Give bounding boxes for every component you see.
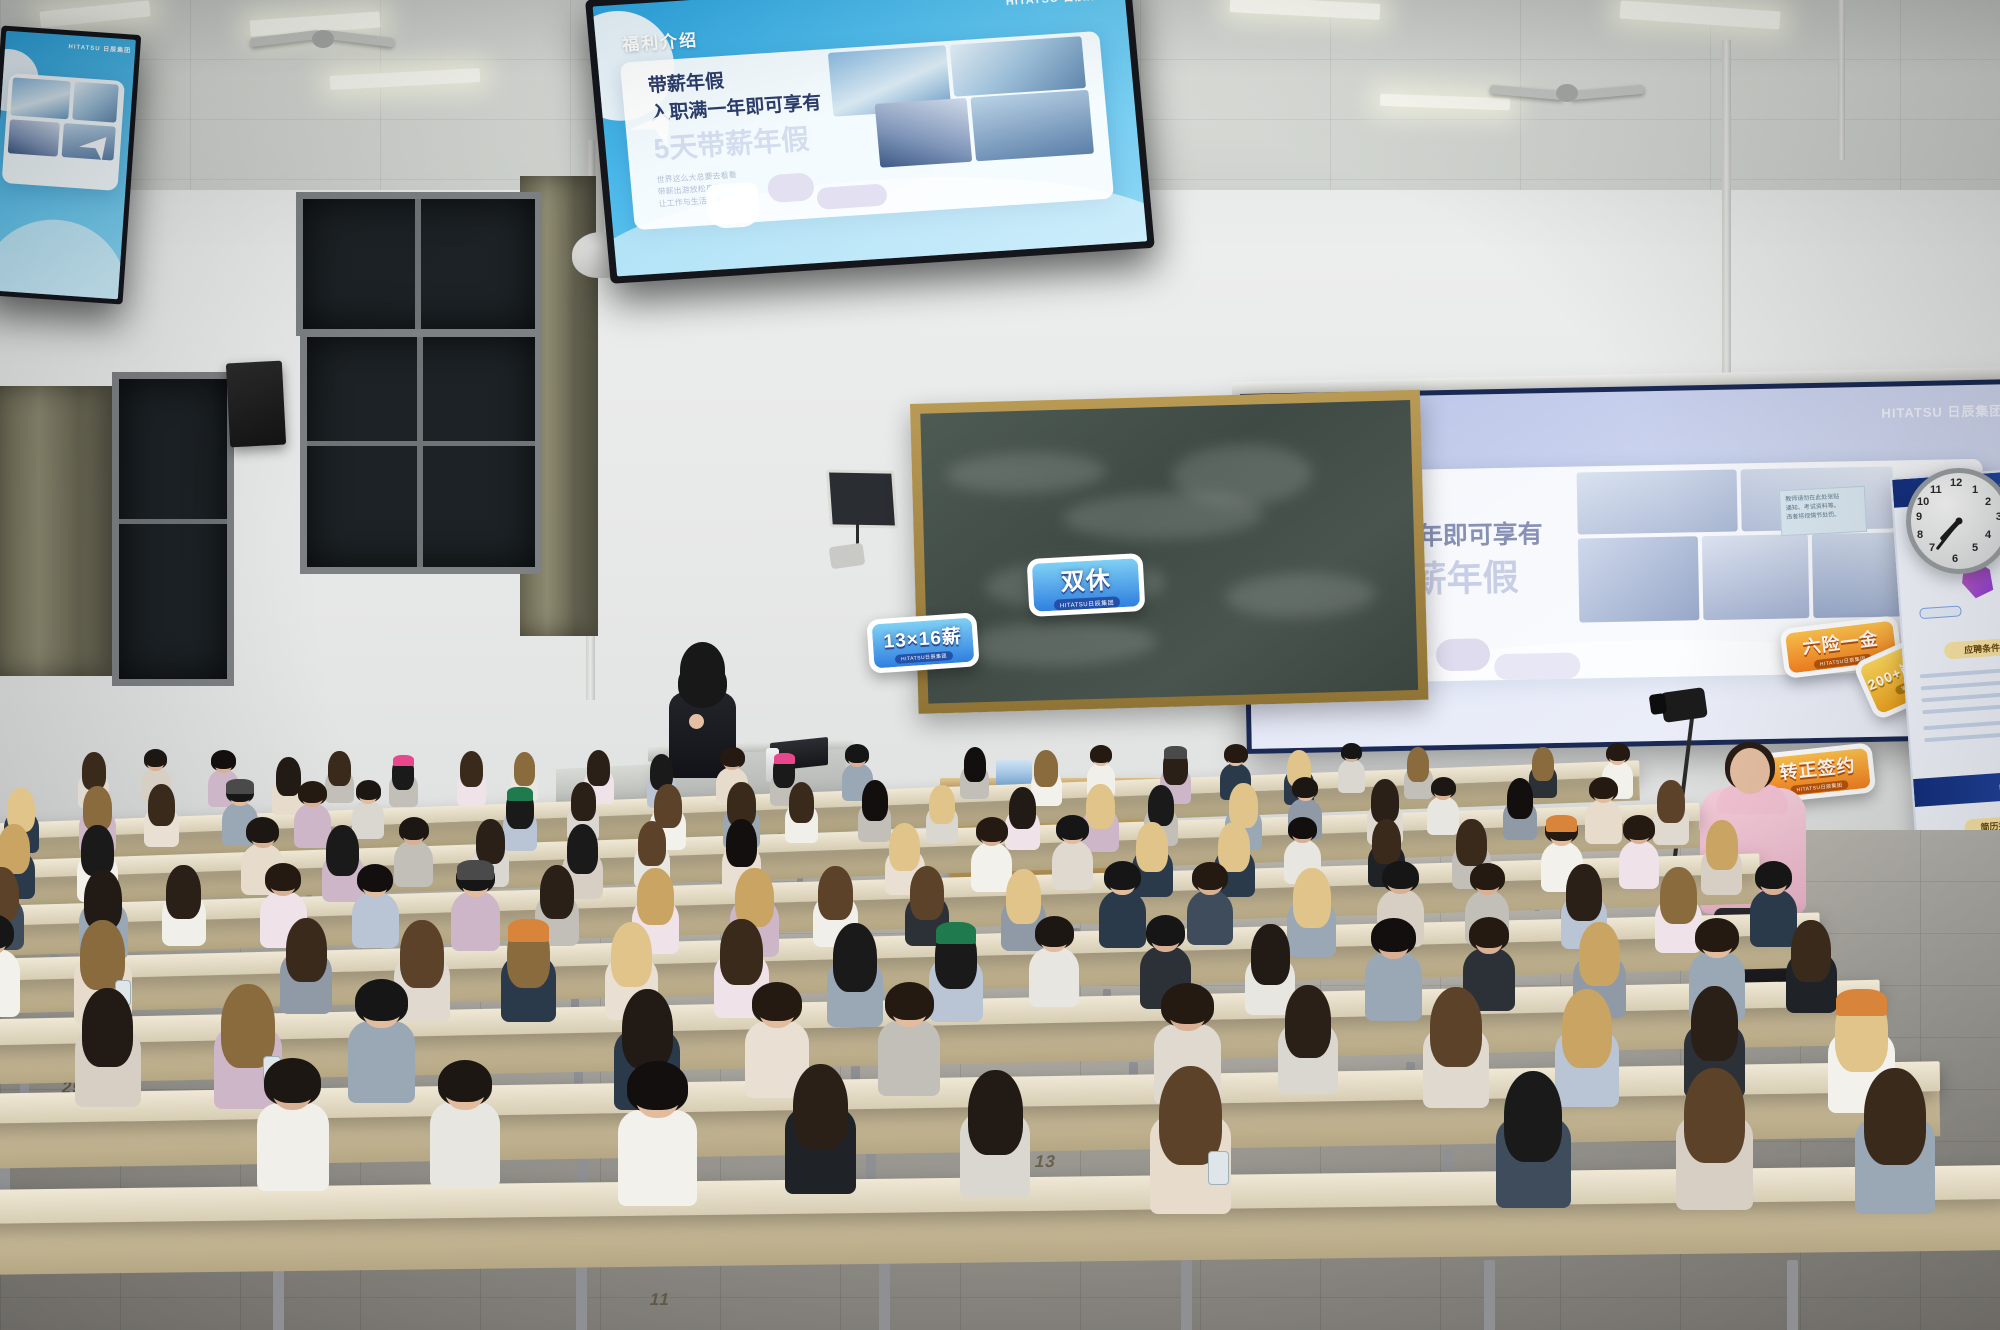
- audience-hair-back: [440, 1063, 490, 1102]
- audience-hair-back: [1693, 989, 1737, 1056]
- audience-hair-back: [1590, 778, 1617, 799]
- audience-cap: [1546, 815, 1577, 832]
- audience-member: [398, 819, 429, 885]
- audience-hair-back: [1138, 824, 1167, 869]
- audience-torso: [1338, 759, 1366, 793]
- audience-hair-back: [85, 873, 120, 927]
- audience-hair-back: [568, 826, 597, 870]
- audience-hair-back: [145, 750, 167, 767]
- slide-heading-1: 带薪年假: [647, 70, 725, 99]
- audience-cap: [774, 753, 795, 765]
- audience-hair-back: [1219, 824, 1248, 869]
- audience-member: [0, 917, 14, 1014]
- slide-section-label: 福利介绍: [621, 26, 699, 56]
- blackboard: [910, 390, 1428, 714]
- slide-secondary: HITATSU 日辰集团: [0, 31, 136, 299]
- audience-hair-back: [728, 820, 756, 863]
- chalk-smudge: [945, 451, 1106, 495]
- slide-photo-snow: [970, 90, 1094, 162]
- audience-member: [1507, 780, 1534, 838]
- audience-hair-back: [0, 826, 29, 871]
- audience-hair-back: [970, 1073, 1020, 1150]
- audience-member: [934, 926, 978, 1019]
- audience-torso: [352, 892, 398, 948]
- audience-hair-back: [84, 788, 110, 828]
- audience-member: [1292, 870, 1332, 954]
- camera-lens: [1649, 693, 1668, 715]
- poster-text-line: [1924, 729, 2000, 743]
- audience-torso: [1619, 840, 1659, 889]
- window-curtain-left: [0, 386, 112, 676]
- audience-cap: [1836, 989, 1886, 1016]
- audience-member: [1656, 781, 1685, 843]
- fan-blade: [1570, 85, 1645, 100]
- audience-hair-back: [655, 785, 681, 824]
- clock-number: 7: [1929, 542, 1935, 554]
- audience-member: [861, 782, 888, 840]
- clock-number: 11: [1930, 484, 1942, 496]
- sticker-body: 双休 HITATSU日辰集团: [1032, 558, 1140, 611]
- audience-hair-back: [721, 749, 744, 767]
- presenter-hair-top: [680, 642, 725, 698]
- audience-hair-back: [1087, 786, 1113, 826]
- audience-torso: [348, 1021, 416, 1104]
- window-lower-left: [300, 330, 542, 574]
- wall-notice: 教师请勿在此处张贴 通知、考试资料等。 违者将视情节处罚。: [1779, 486, 1867, 536]
- window-mullion-h: [307, 441, 535, 446]
- poster-text-line: [1920, 664, 2000, 678]
- audience-hair-back: [223, 988, 272, 1063]
- audience-hair-back: [82, 827, 112, 873]
- audience-member: [929, 786, 955, 841]
- audience-member: [263, 1062, 322, 1187]
- audience-member: [1561, 992, 1613, 1103]
- sticker-body: 13×16薪 HITATSU日辰集团: [872, 618, 975, 669]
- audience-hair-back: [541, 867, 573, 916]
- audience-hair-back: [1164, 986, 1212, 1024]
- audience-hair-back: [1147, 918, 1184, 947]
- audience-cap: [1164, 746, 1187, 759]
- audience-member: [1863, 1072, 1928, 1209]
- audience-member: [506, 923, 551, 1018]
- desk-leg: [576, 1260, 587, 1330]
- audience-hair-back: [82, 922, 124, 985]
- audience-member: [459, 753, 483, 804]
- poster-text-line: [1922, 701, 2000, 714]
- audience-torso: [1052, 840, 1093, 890]
- presenter-hand: [689, 714, 704, 729]
- audience-hair-back: [1287, 988, 1330, 1053]
- slide-logo: HITATSU 日辰集团: [68, 41, 131, 54]
- audience-member: [285, 921, 328, 1011]
- audience-hair-back: [1506, 1075, 1560, 1157]
- audience-cap: [226, 779, 254, 794]
- audience-torso: [430, 1102, 500, 1187]
- audience-hair-back: [1793, 922, 1829, 978]
- audience-torso: [1585, 799, 1622, 844]
- audience-member: [1008, 788, 1036, 848]
- audience-hair-back: [1252, 927, 1288, 981]
- audience-cap: [936, 922, 976, 944]
- audience-member: [1034, 919, 1074, 1004]
- audience-hair-back: [572, 784, 595, 819]
- audience-hair-back: [277, 758, 300, 793]
- sticker-13x16: 13×16薪 HITATSU日辰集团: [866, 612, 979, 674]
- audience-hair-back: [1230, 785, 1256, 825]
- audience-hair-back: [1149, 787, 1173, 824]
- tv-bezel: 福利介绍 HITATSU 日辰集团 带薪年假 入职满一年即可享有 5天带薪年假 …: [585, 0, 1155, 284]
- audience-hair-back: [1581, 925, 1619, 982]
- audience-hair-back: [402, 922, 442, 983]
- clock-number: 3: [1996, 511, 2000, 523]
- clock-number: 2: [1985, 496, 1991, 508]
- audience-member: [81, 991, 134, 1104]
- conduit-pipe-far-right: [1838, 0, 1845, 160]
- audience-hair-back: [1384, 863, 1418, 890]
- audience-member: [1791, 922, 1832, 1009]
- sticker-subtext: HITATSU日辰集团: [1054, 596, 1121, 610]
- audience-hair-back: [247, 819, 278, 843]
- security-camera-small: [829, 543, 866, 570]
- clock-minute-hand: [1936, 520, 1961, 550]
- chalk-rail: [928, 690, 1418, 704]
- audience-cap: [507, 787, 533, 801]
- audience-hair-back: [1866, 1072, 1923, 1159]
- audience-hair-back: [299, 782, 325, 803]
- clock-number: 1: [1972, 484, 1978, 496]
- wall-monitor: [826, 469, 898, 528]
- audience-hair-back: [1035, 751, 1057, 785]
- audience-hair-back: [1707, 822, 1736, 867]
- desk-leg: [879, 1260, 890, 1330]
- audience-member: [147, 786, 175, 845]
- audience-torso: [394, 840, 433, 887]
- slide-main: 福利介绍 HITATSU 日辰集团 带薪年假 入职满一年即可享有 5天带薪年假 …: [593, 0, 1148, 276]
- audience-hair-back: [1432, 990, 1480, 1063]
- audience-member: [1705, 822, 1738, 892]
- audience-hair-back: [83, 754, 105, 787]
- audience-hair-back: [1162, 1070, 1220, 1159]
- audience-hair-back: [149, 786, 174, 824]
- audience-torso: [1099, 890, 1147, 948]
- slide-photo-mountain: [1577, 469, 1738, 534]
- audience-hair-back: [1091, 747, 1111, 763]
- audience-member: [1103, 863, 1142, 945]
- desk-leg: [1484, 1260, 1495, 1330]
- audience-hair-back: [1293, 779, 1317, 798]
- audience-hair-back: [461, 753, 482, 786]
- blackboard-frame: [910, 390, 1428, 714]
- poster-text-line: [1921, 688, 2000, 702]
- fan-hub: [1556, 84, 1578, 102]
- fan-blade: [1490, 85, 1565, 100]
- audience-member: [1430, 778, 1456, 833]
- audience-torso: [1029, 947, 1079, 1008]
- audience-hair-back: [1432, 778, 1455, 796]
- audience-member: [1340, 744, 1362, 791]
- audience-hair-back: [1342, 744, 1362, 760]
- audience-hair-back: [359, 866, 392, 892]
- audience-member: [326, 827, 360, 899]
- pillow-illustration: [816, 183, 888, 210]
- audience-hair-back: [795, 1067, 846, 1145]
- audience-hair-back: [612, 925, 650, 983]
- audience-hair-back: [891, 825, 919, 868]
- audience-hair-back: [1194, 864, 1227, 890]
- audience-cap: [393, 755, 414, 767]
- audience-hair-back: [84, 991, 131, 1063]
- audience-member: [967, 1073, 1024, 1194]
- clock-number: 12: [1950, 477, 1962, 489]
- desk-leg: [1787, 1260, 1798, 1330]
- audience-member: [1370, 921, 1416, 1018]
- ceiling-fan-left: [250, 22, 400, 56]
- blackboard-surface: [920, 400, 1418, 704]
- audience-torso: [257, 1103, 330, 1191]
- audience-hair-back: [168, 867, 200, 915]
- audience-hair-back: [1373, 821, 1400, 862]
- window-mullion: [415, 199, 421, 329]
- audience-hair-back: [1568, 867, 1601, 918]
- audience-torso: [1187, 890, 1232, 945]
- audience-hair-back: [964, 748, 985, 779]
- audience-hair-back: [930, 786, 953, 821]
- audience-torso: [1427, 796, 1459, 835]
- audience-hair-back: [329, 753, 349, 784]
- audience-hair-back: [977, 819, 1007, 842]
- audience-hair-back: [737, 870, 772, 924]
- audience-hair-back: [9, 790, 35, 829]
- slide-photo: [62, 123, 116, 161]
- audience-hair-back: [863, 782, 887, 819]
- clock-number: 5: [1972, 542, 1978, 554]
- audience-hair-back: [1756, 863, 1790, 890]
- audience-member: [437, 1063, 494, 1183]
- audience-member: [354, 983, 409, 1100]
- audience-torso: [878, 1020, 940, 1096]
- audience-hair-back: [1458, 820, 1486, 862]
- slide-photo-lake: [875, 98, 973, 168]
- sticker-shuangxiu: 双休 HITATSU日辰集团: [1027, 553, 1146, 617]
- slide-photo-forest: [1812, 532, 1906, 618]
- audience-member: [1532, 748, 1555, 796]
- audience-member: [1407, 749, 1430, 798]
- slide-logo: HITATSU 日辰集团: [1881, 400, 2000, 421]
- slide-photo: [8, 119, 60, 156]
- audience-hair-back: [1471, 865, 1503, 890]
- audience-member: [788, 784, 815, 841]
- audience-member: [357, 866, 395, 946]
- audience-hair-back: [846, 746, 868, 763]
- audience-member: [1085, 786, 1115, 849]
- audience-hair-back: [588, 751, 609, 784]
- audience-cap: [457, 860, 494, 880]
- audience-hair-back: [400, 819, 428, 841]
- audience-hair-back: [1607, 744, 1629, 761]
- audience-member: [1754, 863, 1793, 945]
- slide-photo: [10, 77, 71, 119]
- chalk-smudge: [1171, 443, 1313, 507]
- audience-member: [328, 753, 351, 802]
- clock-number: 6: [1952, 553, 1958, 565]
- audience-member: [1660, 869, 1698, 950]
- audience-hair-back: [790, 784, 814, 820]
- window-mullion: [417, 337, 423, 567]
- audience-hair-back: [1294, 870, 1329, 923]
- poster-tag: [1919, 605, 1962, 619]
- audience-hair-back: [639, 823, 665, 863]
- poster-section-2: 应聘条件: [1944, 637, 2000, 659]
- fan-blade: [324, 30, 395, 47]
- audience-member: [1034, 751, 1059, 804]
- audience-hair-back: [1471, 919, 1508, 948]
- operator-head: [1730, 748, 1770, 794]
- audience-member: [1158, 1070, 1224, 1209]
- window-mullion-h: [119, 519, 227, 524]
- cat-illustration: [1436, 638, 1491, 671]
- audience-hair-back: [1687, 1072, 1743, 1157]
- cat-illustration: [767, 172, 815, 203]
- audience-member: [166, 867, 202, 943]
- fan-blade: [250, 30, 321, 47]
- blue-box-on-cabinet: [996, 760, 1032, 786]
- poster-text-line: [1921, 677, 2000, 691]
- audience-hair-back: [1372, 781, 1398, 820]
- audience-hair-back: [887, 985, 932, 1020]
- audience-hair-back: [1662, 869, 1696, 920]
- pillow-illustration: [1494, 653, 1580, 681]
- audience-cap: [508, 919, 550, 942]
- audience-hair-back: [1564, 992, 1610, 1063]
- audience-hair-back: [1225, 746, 1247, 763]
- audience-hair-back: [1105, 863, 1139, 890]
- audience-member: [1503, 1075, 1564, 1203]
- audience-hair-back: [722, 921, 761, 980]
- audience-hair-back: [1508, 780, 1532, 817]
- audience-hair-back: [911, 868, 943, 916]
- audience-hair-back: [1036, 919, 1072, 947]
- audience-member: [506, 789, 534, 849]
- audience-hair-back: [267, 1062, 319, 1103]
- poster-band-bottom: HITATSU 日辰集团: [1913, 767, 2000, 807]
- audience-member: [1588, 778, 1618, 842]
- audience-hair-back: [1408, 749, 1428, 780]
- wall-speaker: [226, 361, 286, 448]
- seat-number: 13: [1033, 1152, 1058, 1172]
- clock-number: 9: [1916, 511, 1922, 523]
- tv-screen: HITATSU 日辰集团: [0, 31, 136, 299]
- audience-torso: [1365, 952, 1422, 1021]
- tv-screen: 福利介绍 HITATSU 日辰集团 带薪年假 入职满一年即可享有 5天带薪年假 …: [593, 0, 1148, 276]
- audience-hair-back: [629, 1065, 686, 1110]
- audience-torso: [451, 891, 500, 951]
- audience-hair-back: [287, 921, 325, 978]
- audience-hair-back: [477, 821, 504, 861]
- audience-hair-back: [266, 865, 300, 891]
- audience-torso: [618, 1110, 697, 1206]
- sticker-subtext: HITATSU日辰集团: [895, 651, 954, 664]
- audience-member: [392, 756, 415, 805]
- audience-member: [625, 1065, 689, 1201]
- window-far-left: [112, 372, 234, 686]
- slide-photo-sunset: [950, 36, 1086, 97]
- audience-member: [1683, 1072, 1746, 1205]
- sticker-text: 13×16薪: [883, 621, 963, 653]
- audience-member: [975, 819, 1009, 890]
- tv-main: 福利介绍 HITATSU 日辰集团 带薪年假 入职满一年即可享有 5天带薪年假 …: [585, 0, 1155, 284]
- audience-hair-back: [1696, 920, 1737, 952]
- audience-hair-back: [1290, 819, 1316, 840]
- audience-member: [884, 985, 935, 1092]
- fan-hub: [312, 30, 334, 48]
- sticker-text: 双休: [1060, 560, 1112, 598]
- audience-hair-back: [1010, 788, 1035, 826]
- audience-member: [1284, 988, 1332, 1090]
- audience-hair-back: [1058, 817, 1088, 840]
- audience-hair-back: [515, 754, 534, 784]
- teapot-illustration: [705, 182, 761, 229]
- audience-hair-back: [754, 985, 800, 1021]
- audience-member: [1191, 864, 1228, 942]
- smartphone: [1208, 1151, 1229, 1186]
- tv-bezel: HITATSU 日辰集团: [0, 25, 141, 304]
- audience-member: [1056, 817, 1090, 888]
- audience-member: [297, 782, 327, 845]
- audience-torso: [0, 949, 20, 1018]
- audience-hair-back: [1007, 871, 1040, 920]
- audience-hair-back: [357, 983, 406, 1021]
- audience-member: [963, 748, 986, 797]
- audience-hair-back: [328, 827, 358, 873]
- audience-hair-back: [1624, 817, 1653, 840]
- slide-ground-shape: [0, 214, 131, 299]
- chalk-smudge: [1225, 571, 1376, 619]
- audience-member: [1429, 990, 1483, 1104]
- audience-hair-back: [212, 752, 235, 770]
- tv-secondary: HITATSU 日辰集团: [0, 25, 141, 304]
- window-upper-left: [296, 192, 542, 336]
- audience-hair-back: [1658, 781, 1684, 820]
- audience-hair-back: [1373, 921, 1414, 953]
- slide-photo-lake: [1578, 536, 1700, 622]
- audience-member: [456, 864, 496, 948]
- audience-member: [1623, 817, 1656, 886]
- audience-hair-back: [639, 870, 673, 921]
- audience-member: [791, 1067, 849, 1189]
- audience-hair-back: [357, 782, 380, 800]
- clock-center-pin: [1956, 518, 1963, 525]
- ceiling-fan-right: [1490, 76, 1650, 110]
- lecture-hall-photo: HITATSU 日辰集团 福利介绍 HITATSU 日辰集团: [0, 0, 2000, 1330]
- poster-text-line: [1923, 716, 2000, 730]
- slide-photo: [72, 82, 119, 123]
- clock-number: 4: [1985, 529, 1991, 541]
- clock-number: 10: [1917, 496, 1929, 508]
- audience-hair-back: [820, 868, 852, 917]
- audience-hair-back: [624, 992, 671, 1064]
- video-camera: [1660, 687, 1708, 723]
- clock-number: 8: [1917, 529, 1923, 541]
- chalk-smudge: [956, 619, 1157, 669]
- seat-number: 11: [648, 1290, 672, 1310]
- desk-leg: [1181, 1260, 1192, 1330]
- audience-member: [832, 926, 878, 1024]
- slide-logo: HITATSU 日辰集团: [1005, 0, 1111, 9]
- audience-hair-back: [1533, 748, 1553, 779]
- slide-photo-snow: [1702, 534, 1810, 620]
- audience-hair-back: [835, 926, 876, 988]
